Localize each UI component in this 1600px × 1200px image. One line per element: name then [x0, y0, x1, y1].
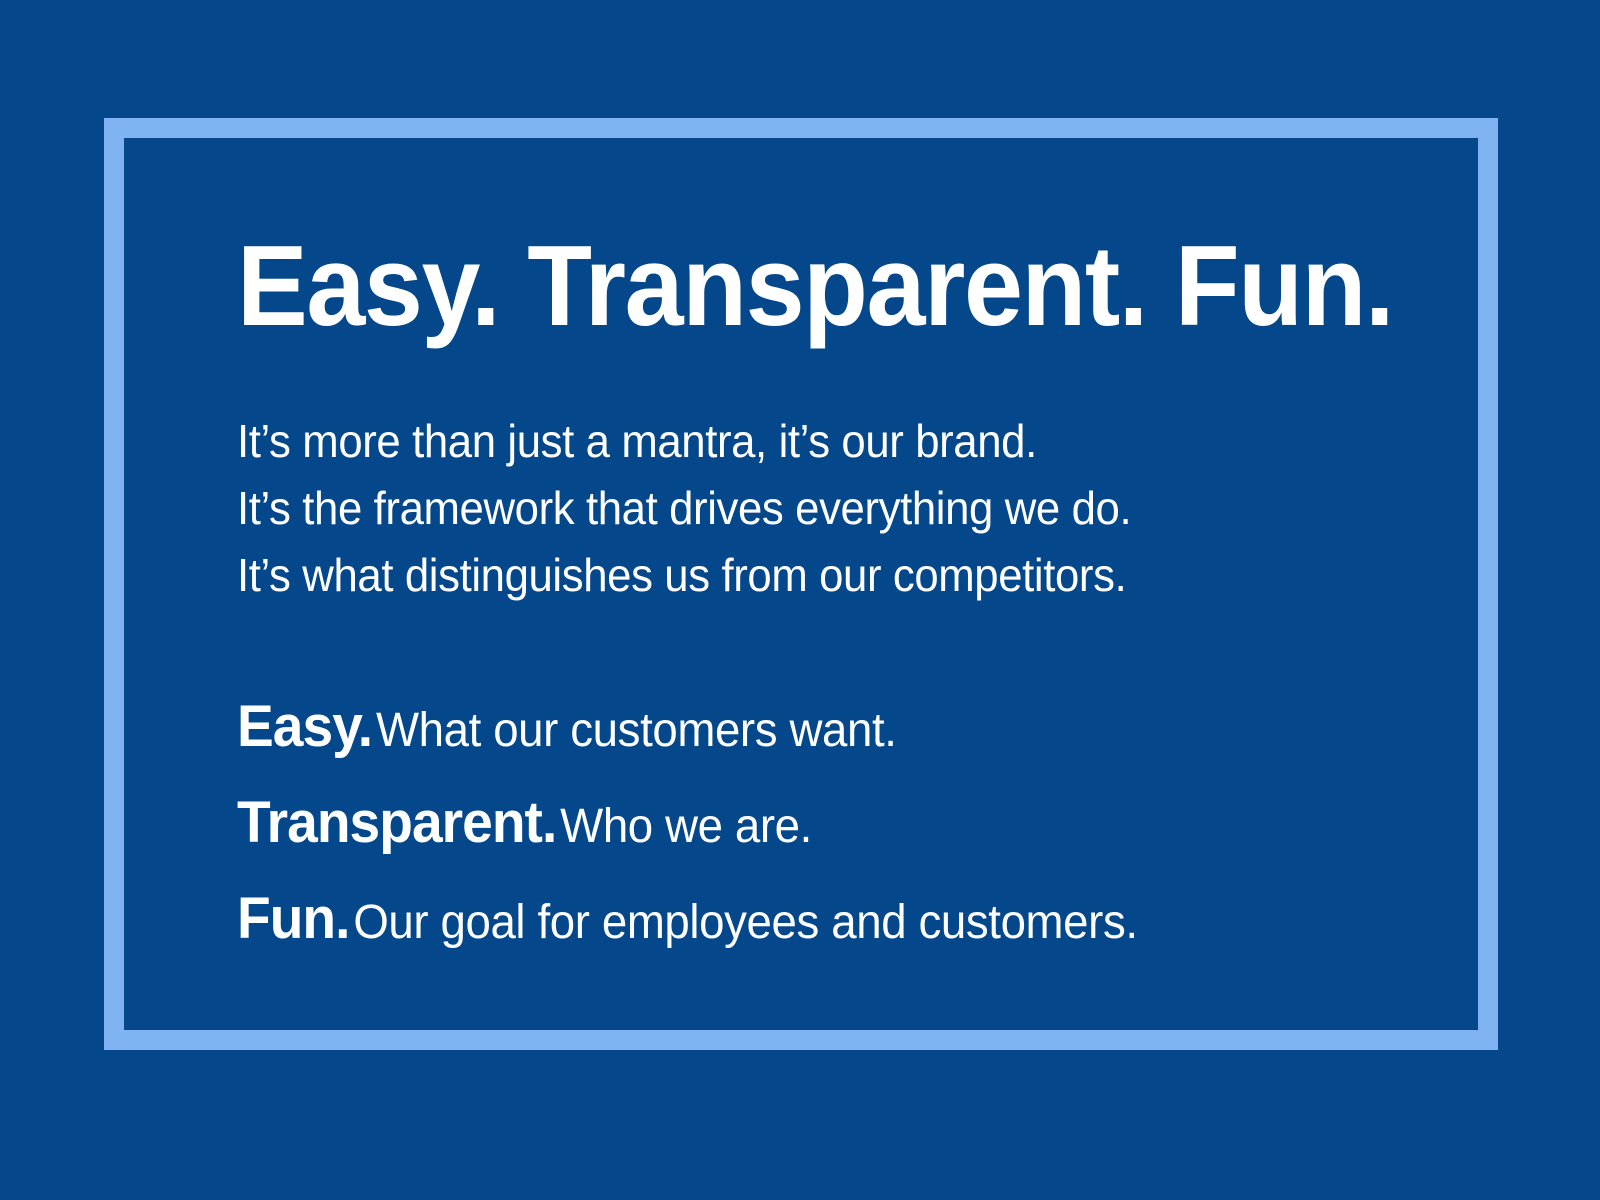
pillar-term: Fun. — [237, 886, 349, 951]
slide-headline: Easy. Transparent. Fun. — [237, 228, 1334, 346]
pillar-term: Transparent. — [237, 790, 556, 855]
pillar-item-easy: Easy. What our customers want. — [237, 686, 1358, 782]
intro-paragraph: It’s more than just a mantra, it’s our b… — [237, 408, 1417, 609]
pillar-item-transparent: Transparent. Who we are. — [237, 782, 1358, 878]
pillar-description: What our customers want. — [376, 704, 897, 757]
brand-mantra-slide: Easy. Transparent. Fun. It’s more than j… — [0, 0, 1600, 1200]
pillar-description: Who we are. — [560, 800, 812, 853]
slide-content: Easy. Transparent. Fun. It’s more than j… — [237, 228, 1417, 974]
intro-line: It’s more than just a mantra, it’s our b… — [237, 408, 1358, 475]
pillar-term: Easy. — [237, 694, 372, 759]
pillar-list: Easy. What our customers want. Transpare… — [237, 686, 1417, 974]
pillar-item-fun: Fun. Our goal for employees and customer… — [237, 878, 1358, 974]
intro-line: It’s the framework that drives everythin… — [237, 475, 1358, 542]
pillar-description: Our goal for employees and customers. — [353, 896, 1137, 949]
intro-line: It’s what distinguishes us from our comp… — [237, 542, 1358, 609]
